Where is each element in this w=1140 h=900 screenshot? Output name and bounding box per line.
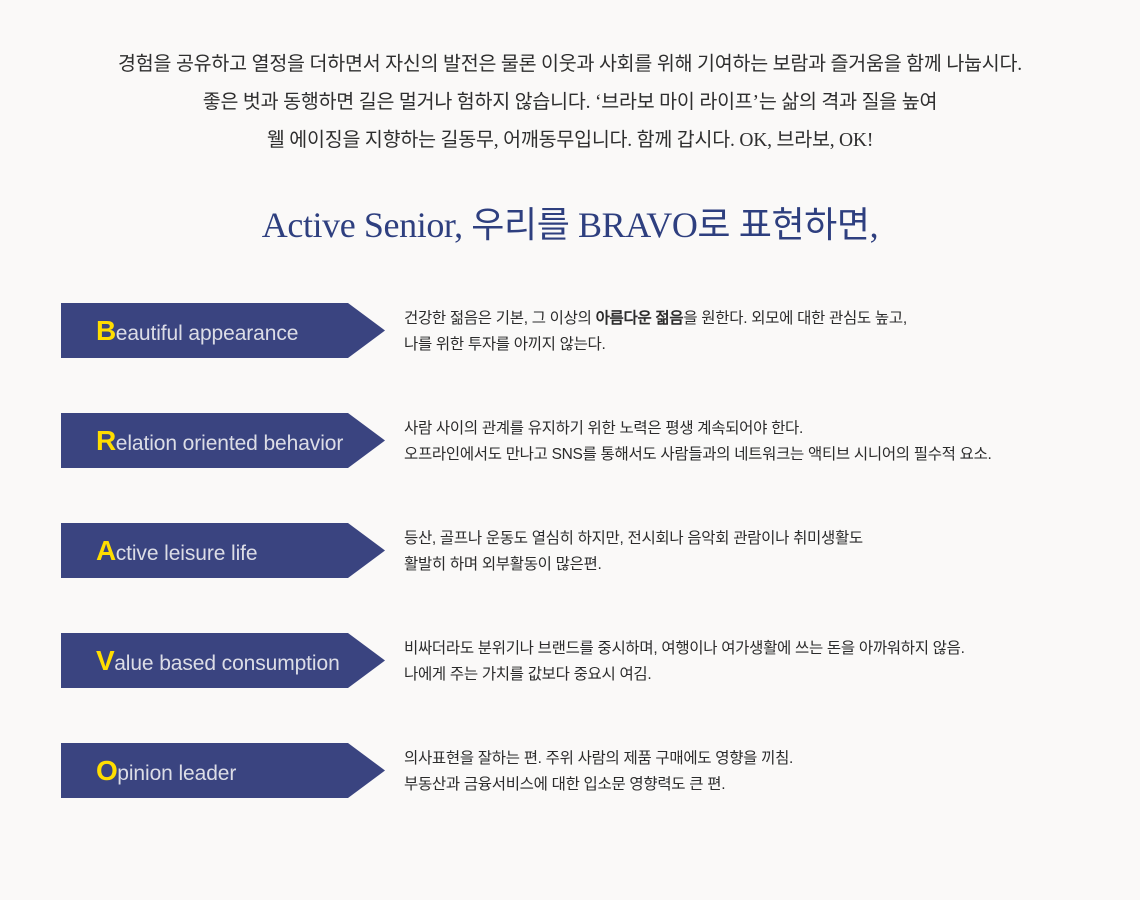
intro-line: 좋은 벗과 동행하면 길은 멀거나 험하지 않습니다. ‘브라보 마이 라이프’… — [0, 84, 1140, 122]
description-line: 나를 위한 투자를 아끼지 않는다. — [404, 332, 1104, 358]
page-root: 경험을 공유하고 열정을 더하면서 자신의 발전은 물론 이웃과 사회를 위해 … — [0, 0, 1140, 900]
banner-label-rest: ctive leisure life — [116, 542, 258, 565]
description-line: 오프라인에서도 만나고 SNS를 통해서도 사람들과의 네트워크는 액티브 시니… — [404, 442, 1104, 468]
description-emphasis: 아름다운 젊음 — [596, 310, 684, 327]
item-description: 사람 사이의 관계를 유지하기 위한 노력은 평생 계속되어야 한다. 오프라인… — [404, 416, 1104, 468]
intro-line: 웰 에이징을 지향하는 길동무, 어깨동무입니다. 함께 갑시다. OK, 브라… — [0, 122, 1140, 160]
banner-label: Beautiful appearance — [96, 317, 298, 345]
description-line: 비싸더라도 분위기나 브랜드를 중시하며, 여행이나 여가생활에 쓰는 돈을 아… — [404, 636, 1104, 662]
list-item: Relation oriented behavior 사람 사이의 관계를 유지… — [0, 413, 1140, 523]
description-line: 나에게 주는 가치를 값보다 중요시 여김. — [404, 662, 1104, 688]
banner-label: Opinion leader — [96, 757, 236, 785]
list-item: Beautiful appearance 건강한 젊음은 기본, 그 이상의 아… — [0, 303, 1140, 413]
banner-initial-letter: V — [96, 645, 114, 676]
banner-label-rest: alue based consumption — [114, 652, 339, 675]
intro-line: 경험을 공유하고 열정을 더하면서 자신의 발전은 물론 이웃과 사회를 위해 … — [0, 46, 1140, 84]
banner-initial-letter: B — [96, 315, 116, 346]
banner-relation-oriented-behavior[interactable]: Relation oriented behavior — [61, 413, 385, 468]
banner-label-rest: elation oriented behavior — [116, 432, 344, 455]
description-text: 을 원한다. 외모에 대한 관심도 높고, — [683, 310, 907, 327]
item-description: 의사표현을 잘하는 편. 주위 사람의 제품 구매에도 영향을 끼침. 부동산과… — [404, 746, 1104, 798]
description-line: 의사표현을 잘하는 편. 주위 사람의 제품 구매에도 영향을 끼침. — [404, 746, 1104, 772]
item-description: 건강한 젊음은 기본, 그 이상의 아름다운 젊음을 원한다. 외모에 대한 관… — [404, 306, 1104, 358]
description-line: 건강한 젊음은 기본, 그 이상의 아름다운 젊음을 원한다. 외모에 대한 관… — [404, 306, 1104, 332]
banner-initial-letter: R — [96, 425, 116, 456]
banner-initial-letter: A — [96, 535, 116, 566]
banner-label: Active leisure life — [96, 537, 258, 565]
list-item: Opinion leader 의사표현을 잘하는 편. 주위 사람의 제품 구매… — [0, 743, 1140, 853]
description-text: 건강한 젊음은 기본, 그 이상의 — [404, 310, 596, 327]
banner-label: Relation oriented behavior — [96, 427, 343, 455]
description-line: 활발히 하며 외부활동이 많은편. — [404, 552, 1104, 578]
list-item: Active leisure life 등산, 골프나 운동도 열심히 하지만,… — [0, 523, 1140, 633]
description-line: 사람 사이의 관계를 유지하기 위한 노력은 평생 계속되어야 한다. — [404, 416, 1104, 442]
bravo-items-list: Beautiful appearance 건강한 젊음은 기본, 그 이상의 아… — [0, 303, 1140, 853]
description-line: 부동산과 금융서비스에 대한 입소문 영향력도 큰 편. — [404, 772, 1104, 798]
banner-label: Value based consumption — [96, 647, 340, 675]
banner-beautiful-appearance[interactable]: Beautiful appearance — [61, 303, 385, 358]
page-title: Active Senior, 우리를 BRAVO로 표현하면, — [0, 202, 1140, 248]
banner-initial-letter: O — [96, 755, 117, 786]
banner-value-based-consumption[interactable]: Value based consumption — [61, 633, 385, 688]
banner-active-leisure-life[interactable]: Active leisure life — [61, 523, 385, 578]
banner-label-rest: pinion leader — [117, 762, 236, 785]
item-description: 비싸더라도 분위기나 브랜드를 중시하며, 여행이나 여가생활에 쓰는 돈을 아… — [404, 636, 1104, 688]
banner-opinion-leader[interactable]: Opinion leader — [61, 743, 385, 798]
banner-label-rest: eautiful appearance — [116, 322, 299, 345]
item-description: 등산, 골프나 운동도 열심히 하지만, 전시회나 음악회 관람이나 취미생활도… — [404, 526, 1104, 578]
list-item: Value based consumption 비싸더라도 분위기나 브랜드를 … — [0, 633, 1140, 743]
description-line: 등산, 골프나 운동도 열심히 하지만, 전시회나 음악회 관람이나 취미생활도 — [404, 526, 1104, 552]
intro-paragraph: 경험을 공유하고 열정을 더하면서 자신의 발전은 물론 이웃과 사회를 위해 … — [0, 46, 1140, 160]
